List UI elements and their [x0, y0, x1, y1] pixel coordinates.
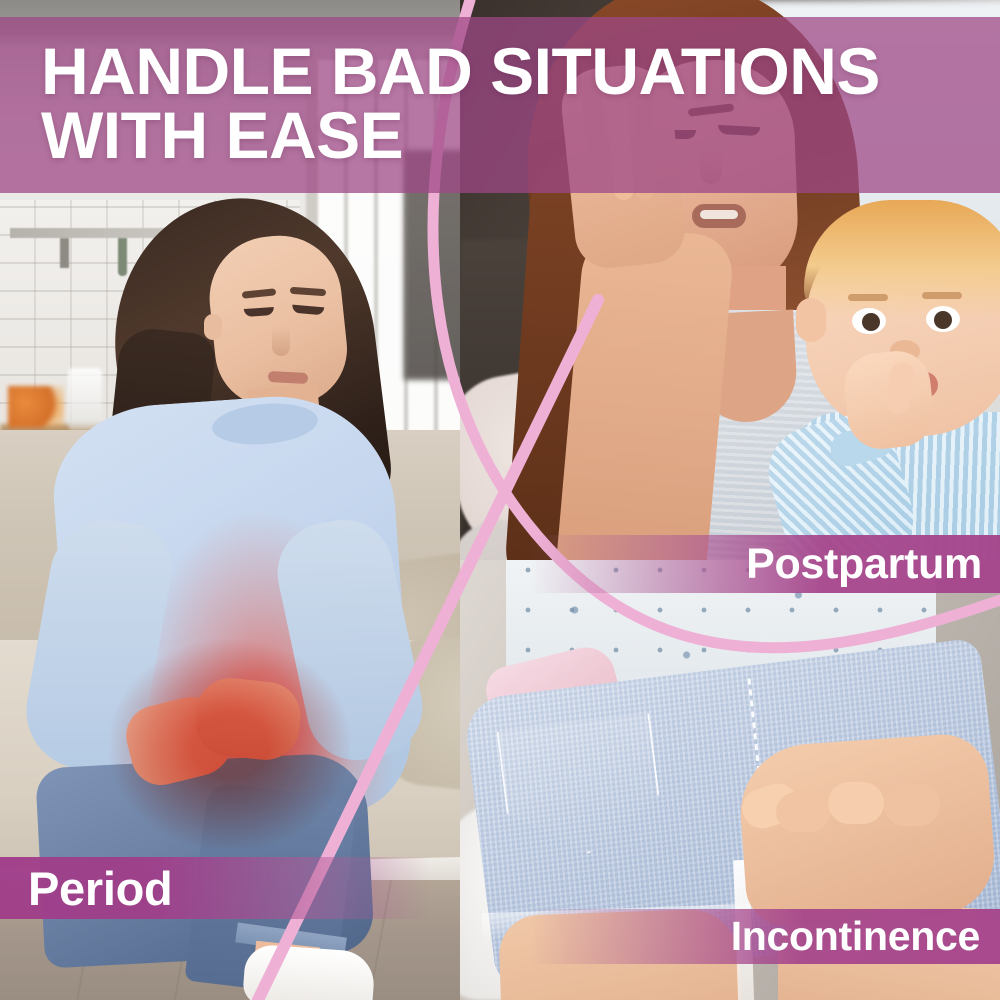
- label-period: Period: [0, 857, 430, 919]
- glass-jar: [68, 368, 102, 430]
- label-postpartum: Postpartum: [530, 535, 1000, 593]
- headline-banner: HANDLE BAD SITUATIONS WITH EASE: [0, 17, 1000, 193]
- kitchen-utensil: [60, 238, 69, 268]
- label-postpartum-text: Postpartum: [746, 540, 982, 589]
- mother-teeth: [700, 210, 738, 219]
- woman-knuckle: [884, 784, 940, 826]
- woman-mouth: [268, 371, 309, 384]
- baby-pupil: [862, 313, 880, 331]
- label-incontinence-text: Incontinence: [731, 913, 980, 960]
- woman-knuckle: [776, 792, 830, 832]
- label-incontinence: Incontinence: [530, 909, 1000, 964]
- woman-ear: [204, 314, 222, 340]
- baby-eyebrow: [922, 292, 962, 299]
- page-title: HANDLE BAD SITUATIONS WITH EASE: [41, 39, 981, 167]
- fruit-bowl: [8, 386, 64, 428]
- poster-canvas: HANDLE BAD SITUATIONS WITH EASE Period P…: [0, 0, 1000, 1000]
- woman-nose: [272, 326, 290, 356]
- baby-eyebrow: [848, 294, 888, 301]
- baby-ear: [796, 298, 826, 342]
- kitchen-utensil: [118, 238, 127, 276]
- woman-knuckle: [828, 782, 884, 824]
- baby-pupil: [934, 311, 952, 329]
- woman-hand-tugging-shorts: [736, 731, 998, 928]
- label-period-text: Period: [28, 861, 172, 916]
- abdominal-pain-glow: [110, 640, 350, 850]
